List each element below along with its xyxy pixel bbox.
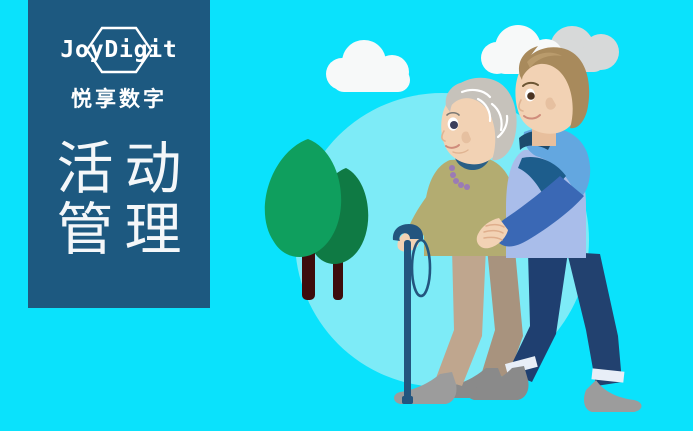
logo-wordmark: JoyDigit xyxy=(60,37,177,63)
title-panel: JoyDigit 悦享数字 活动 管理 xyxy=(28,0,210,308)
page-title: 活动 管理 xyxy=(46,139,193,261)
page-title-line-1: 活动 xyxy=(46,139,193,200)
page-title-line-2: 管理 xyxy=(46,200,193,261)
activity-management-banner: JoyDigit 悦享数字 活动 管理 xyxy=(0,0,693,431)
brand-chinese-name: 悦享数字 xyxy=(71,83,167,113)
brand-logo: JoyDigit xyxy=(53,26,185,74)
cloud-left xyxy=(326,40,410,92)
